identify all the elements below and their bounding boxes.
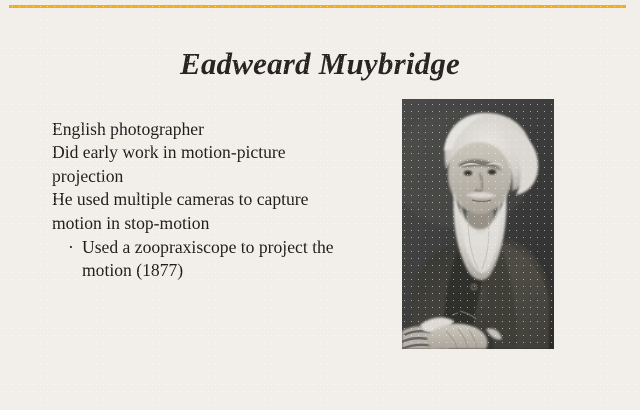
- page-title: Eadweard Muybridge: [0, 46, 640, 82]
- slide-canvas: Eadweard Muybridge English photographer …: [0, 0, 640, 410]
- body-line: motion in stop-motion: [52, 212, 397, 235]
- body-line: projection: [52, 165, 397, 188]
- portrait-illustration: [402, 99, 554, 349]
- sub-bullet-line: motion (1877): [82, 259, 397, 282]
- list-item: · Used a zoopraxiscope to project the mo…: [52, 236, 397, 283]
- portrait-photo: [402, 99, 554, 349]
- body-line: Did early work in motion-picture: [52, 141, 397, 164]
- body-text-block: English photographer Did early work in m…: [52, 118, 397, 283]
- accent-rule: [9, 5, 626, 8]
- body-line: English photographer: [52, 118, 397, 141]
- sub-bullet-list: · Used a zoopraxiscope to project the mo…: [52, 236, 397, 283]
- body-line: He used multiple cameras to capture: [52, 188, 397, 211]
- bullet-icon: ·: [68, 236, 74, 259]
- sub-bullet-line: Used a zoopraxiscope to project the: [82, 236, 397, 259]
